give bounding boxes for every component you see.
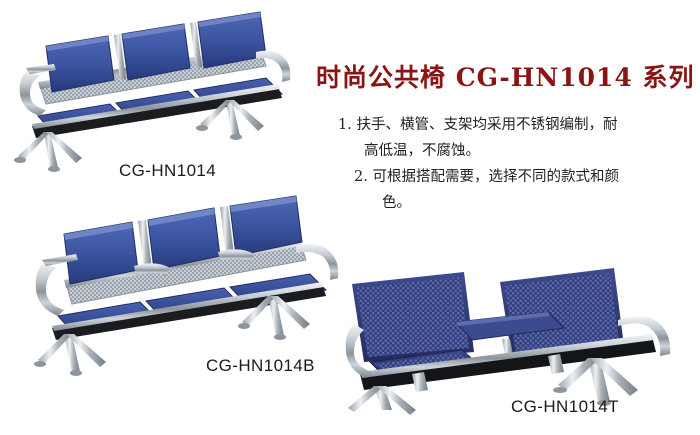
- product-label-cg-hn1014t: CG-HN1014T: [511, 397, 619, 417]
- feature-list: 1. 扶手、横管、支架均采用不锈钢编制，耐 高低温，不腐蚀。 2. 可根据搭配需…: [338, 112, 688, 216]
- page-title-text: 时尚公共椅 CG-HN1014 系列: [316, 63, 695, 92]
- feature-line-2: 高低温，不腐蚀。: [364, 138, 688, 164]
- armrest-left: [36, 262, 64, 316]
- product-image-cg-hn1014: [10, 8, 310, 173]
- perforated-back-left: [352, 272, 474, 362]
- page-title: 时尚公共椅 CG-HN1014 系列: [316, 58, 696, 94]
- feature-line-3: 2. 可根据搭配需要，选择不同的款式和颜: [354, 164, 688, 190]
- catalog-page: CG-HN1014: [0, 0, 700, 435]
- feature-line-1: 1. 扶手、横管、支架均采用不锈钢编制，耐: [338, 112, 688, 138]
- product-image-cg-hn1014b: [28, 196, 348, 376]
- product-label-cg-hn1014: CG-HN1014: [119, 161, 216, 181]
- feature-line-4: 色。: [382, 190, 688, 216]
- product-label-cg-hn1014b: CG-HN1014B: [206, 356, 315, 376]
- product-image-cg-hn1014t: [352, 262, 692, 412]
- armrest-right: [296, 244, 338, 280]
